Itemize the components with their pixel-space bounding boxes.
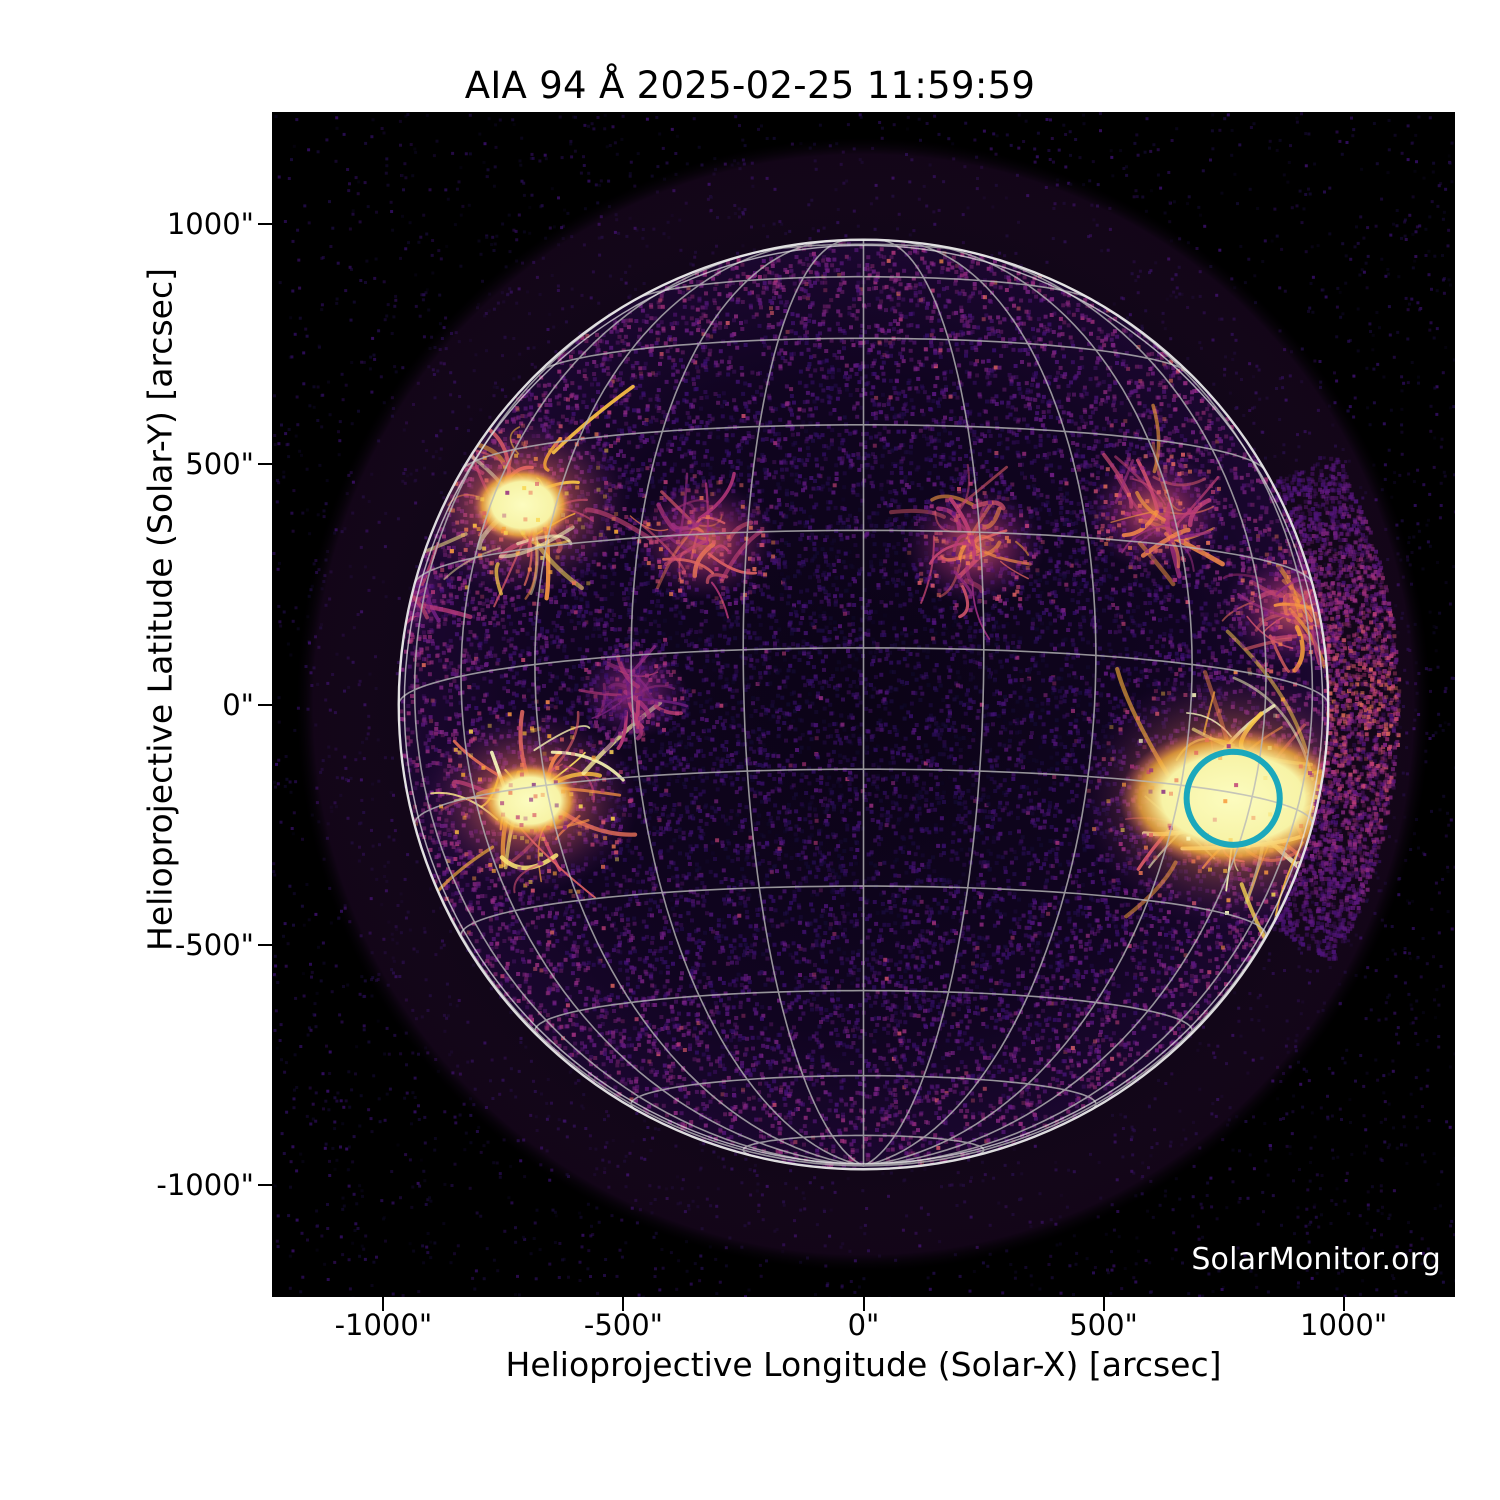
y-axis-title: Helioprojective Latitude (Solar-Y) [arcs… [141,20,180,1200]
x-tick-mark [1343,1297,1345,1311]
x-tick-label: 500" [1069,1308,1138,1342]
x-tick-label: -1000" [335,1308,433,1342]
y-tick-label: -500" [175,928,254,962]
y-tick-label: 0" [222,688,254,722]
y-tick-mark [258,1184,272,1186]
y-tick-mark [258,944,272,946]
y-tick-label: -1000" [156,1168,254,1202]
solar-disk-image [272,112,1455,1297]
page-title: AIA 94 Å 2025-02-25 11:59:59 [0,64,1500,107]
x-axis-title: Helioprojective Longitude (Solar-X) [arc… [272,1345,1455,1384]
y-tick-mark [258,704,272,706]
y-tick-mark [258,223,272,225]
y-tick-label: 500" [185,447,254,481]
x-tick-label: 0" [848,1308,880,1342]
x-tick-mark [863,1297,865,1311]
x-tick-mark [622,1297,624,1311]
y-tick-mark [258,463,272,465]
x-tick-label: 1000" [1300,1308,1387,1342]
solar-image-plot-area: SolarMonitor.org [272,112,1455,1297]
y-tick-label: 1000" [167,207,254,241]
solar-image-figure: AIA 94 Å 2025-02-25 11:59:59 SolarMonito… [0,0,1500,1500]
x-tick-mark [382,1297,384,1311]
x-tick-mark [1103,1297,1105,1311]
watermark-label: SolarMonitor.org [1191,1242,1441,1277]
x-tick-label: -500" [584,1308,663,1342]
